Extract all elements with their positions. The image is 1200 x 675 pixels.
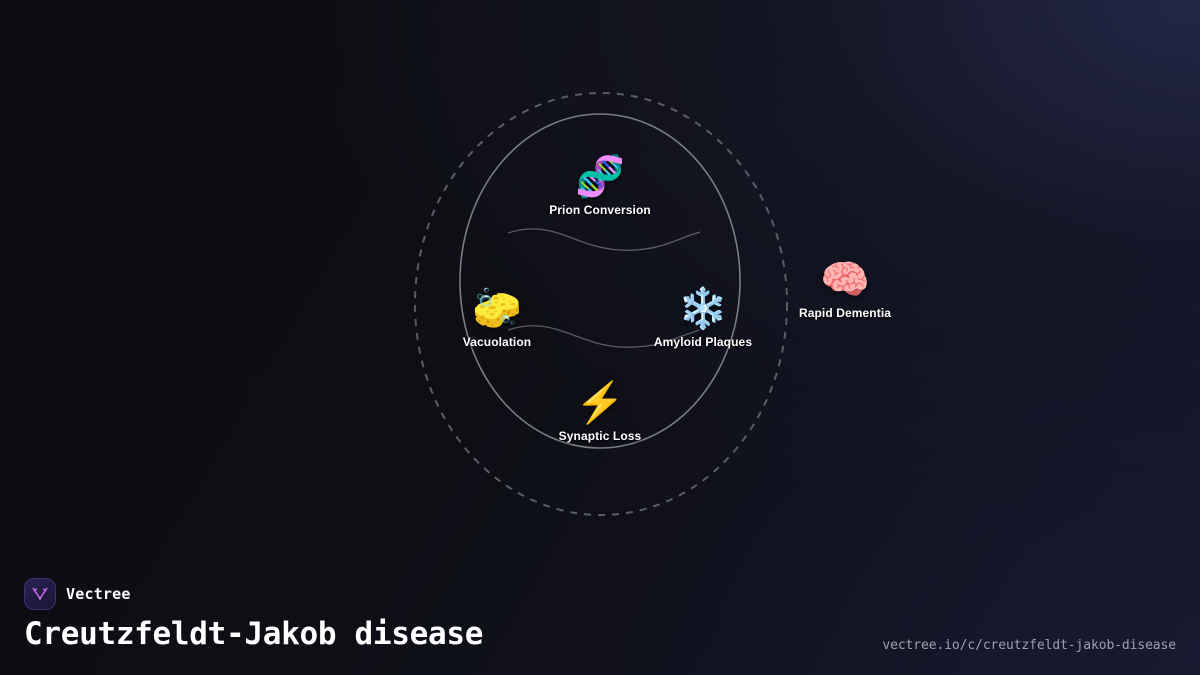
dna-icon: 🧬 [575,155,625,199]
node-label: Vacuolation [463,335,531,349]
node-amyloid-plaques[interactable]: ❄️ Amyloid Plaques [654,287,752,349]
lightning-bolt-icon: ⚡ [575,381,625,425]
node-label: Synaptic Loss [559,429,642,443]
node-vacuolation[interactable]: 🧽 Vacuolation [463,287,531,349]
brain-icon: 🧠 [820,258,870,302]
concept-graph-canvas[interactable]: 🧬 Prion Conversion 🧽 Vacuolation ❄️ Amyl… [0,0,1200,560]
node-label: Rapid Dementia [799,306,891,320]
node-rapid-dementia[interactable]: 🧠 Rapid Dementia [799,258,891,320]
vectree-logo-icon [24,578,56,610]
brand[interactable]: Vectree [24,578,131,610]
brand-name: Vectree [66,585,131,603]
page-url: vectree.io/c/creutzfeldt-jakob-disease [882,638,1176,653]
edge-prion-to-amyloid [508,229,700,250]
sponge-icon: 🧽 [472,287,522,331]
node-label: Amyloid Plaques [654,335,752,349]
snowflake-icon: ❄️ [678,287,728,331]
graph-svg-layer [0,0,1200,560]
node-prion-conversion[interactable]: 🧬 Prion Conversion [549,155,651,217]
page-background: 🧬 Prion Conversion 🧽 Vacuolation ❄️ Amyl… [0,0,1200,675]
node-label: Prion Conversion [549,203,651,217]
page-title: Creutzfeldt-Jakob disease [24,616,483,652]
node-synaptic-loss[interactable]: ⚡ Synaptic Loss [559,381,642,443]
footer-bar: Vectree Creutzfeldt-Jakob disease vectre… [0,560,1200,675]
